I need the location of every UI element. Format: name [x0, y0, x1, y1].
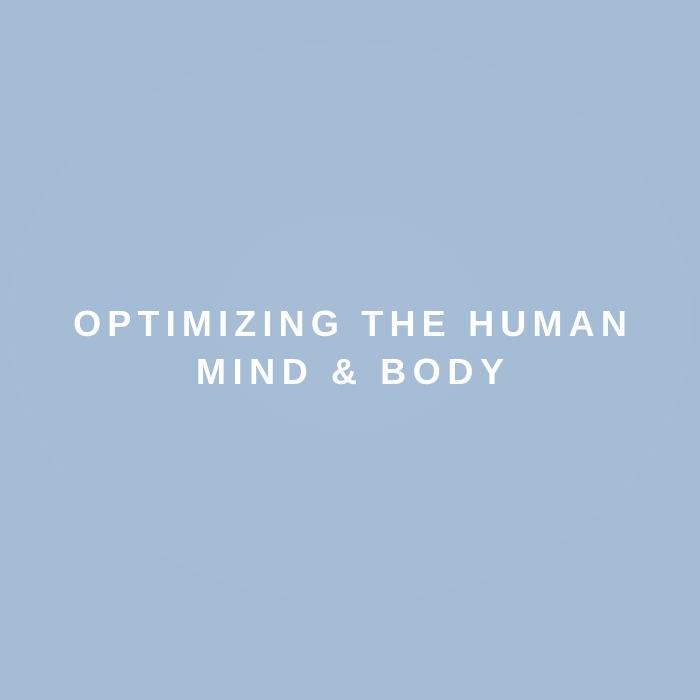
headline-line-2: MIND & BODY: [0, 348, 700, 396]
headline-line-1: OPTIMIZING THE HUMAN: [0, 300, 700, 348]
headline-block: OPTIMIZING THE HUMAN MIND & BODY: [0, 300, 700, 396]
graphic-card: OPTIMIZING THE HUMAN MIND & BODY: [0, 0, 700, 700]
